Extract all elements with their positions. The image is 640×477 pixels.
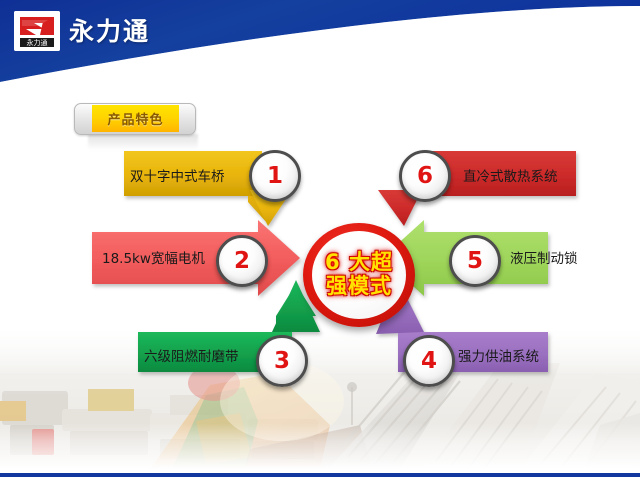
brand-logo: 永力通 永力通 [14, 11, 150, 51]
slide-canvas: 永力通 永力通 产品特色 [0, 0, 640, 477]
yonglitong-logo-mark-icon: 永力通 [14, 11, 60, 51]
item-badge-1[interactable]: 1 [249, 150, 301, 202]
header-banner: 永力通 永力通 [0, 0, 640, 110]
arrow-shape-2 [92, 220, 300, 296]
feature-tab-highlight: 产品特色 [92, 105, 179, 132]
item-number-6: 6 [417, 165, 433, 188]
item-number-3: 3 [274, 350, 290, 373]
item-badge-6[interactable]: 6 [399, 150, 451, 202]
feature-tab-label: 产品特色 [107, 109, 163, 128]
item-number-1: 1 [267, 165, 283, 188]
item-badge-4[interactable]: 4 [403, 335, 455, 387]
six-modes-diagram: 双十字中式车桥 18.5kw宽幅电机 六级阻燃耐磨带 强力供油系统 液压制动锁 … [0, 120, 640, 405]
hub-text: 6 大超 强模式 [303, 223, 415, 327]
item-badge-3[interactable]: 3 [256, 335, 308, 387]
item-number-4: 4 [421, 350, 437, 373]
item-badge-5[interactable]: 5 [449, 235, 501, 287]
hub-line-2: 强模式 [326, 275, 392, 299]
hub-line-1: 6 大超 [325, 251, 393, 275]
item-badge-2[interactable]: 2 [216, 235, 268, 287]
logo-badge-text: 永力通 [27, 38, 48, 47]
feature-tab-shadow [88, 134, 198, 150]
item-number-2: 2 [234, 250, 250, 273]
photo-fade-bottom [0, 423, 640, 469]
feature-tab[interactable]: 产品特色 [74, 103, 196, 135]
item-number-5: 5 [467, 250, 483, 273]
center-hub[interactable]: 6 大超 强模式 [303, 223, 415, 327]
brand-name: 永力通 [69, 19, 150, 44]
